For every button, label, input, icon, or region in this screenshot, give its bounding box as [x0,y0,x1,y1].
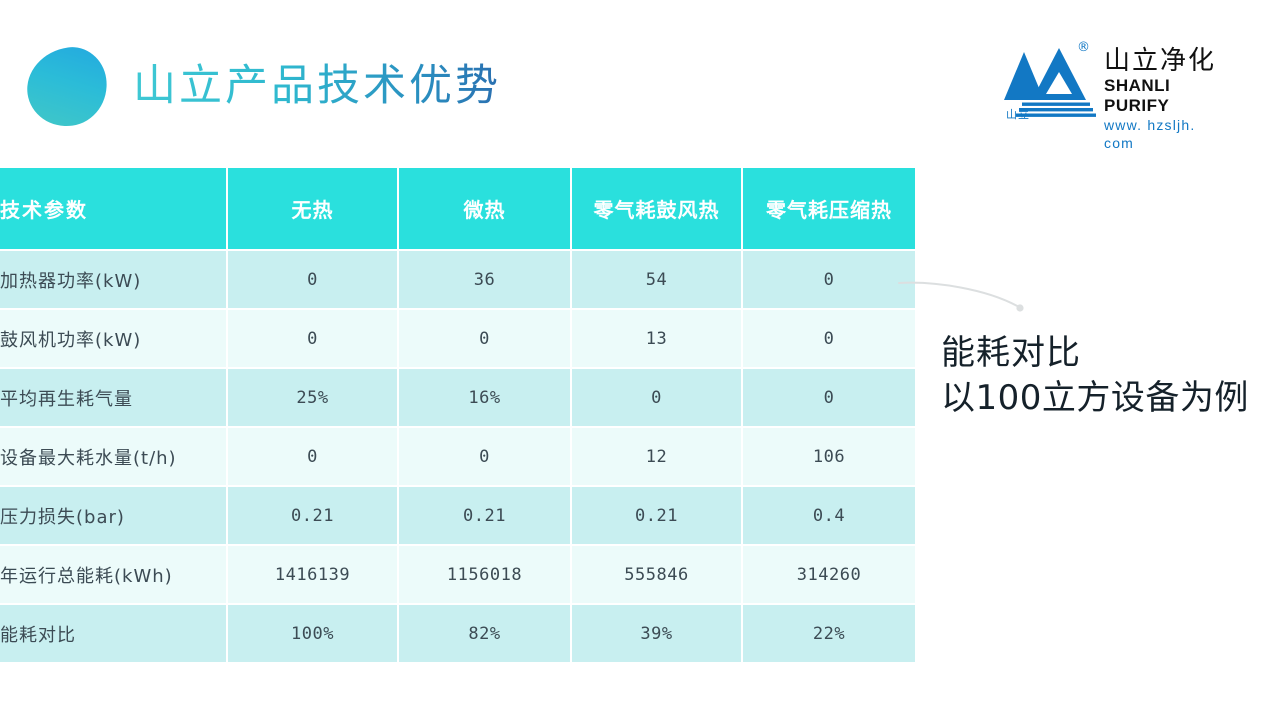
registered-trademark-icon: ® [1077,40,1090,55]
table-cell: 82% [398,604,571,663]
curved-arrow-icon [895,275,1040,330]
row-label: 加热器功率(kW) [0,250,227,309]
column-header-no-heat: 无热 [227,168,398,250]
table-row: 设备最大耗水量(t/h) 0 0 12 106 [0,427,915,486]
annotation-line-2: 以100立方设备为例 [941,376,1249,421]
row-label: 设备最大耗水量(t/h) [0,427,227,486]
annotation-line-1: 能耗对比 [941,331,1249,376]
logo-text-block: 山立净化 SHANLI PURIFY www. hzsljh. com [1104,46,1222,152]
table-cell: 100% [227,604,398,663]
row-label: 鼓风机功率(kW) [0,309,227,368]
table-cell: 0 [227,309,398,368]
table-cell: 22% [742,604,915,663]
table-cell: 0 [398,309,571,368]
row-label: 平均再生耗气量 [0,368,227,427]
page-title: 山立产品技术优势 [133,58,501,114]
table-cell: 1416139 [227,545,398,604]
column-header-micro-heat: 微热 [398,168,571,250]
table-cell: 39% [571,604,742,663]
row-label: 能耗对比 [0,604,227,663]
table-header-row: 技术参数 无热 微热 零气耗鼓风热 零气耗压缩热 [0,168,915,250]
column-header-zero-purge-compression: 零气耗压缩热 [742,168,915,250]
table-cell: 0.4 [742,486,915,545]
table-cell: 0 [227,427,398,486]
table-cell: 0 [227,250,398,309]
table-cell: 0 [398,427,571,486]
logo-mark-label: 山立 [1006,106,1030,122]
table-cell: 16% [398,368,571,427]
table-row: 加热器功率(kW) 0 36 54 0 [0,250,915,309]
table-row: 年运行总能耗(kWh) 1416139 1156018 555846 31426… [0,545,915,604]
table-cell: 555846 [571,545,742,604]
blob-shape-icon [22,43,112,131]
table-cell: 0 [742,250,915,309]
tech-spec-table: 技术参数 无热 微热 零气耗鼓风热 零气耗压缩热 加热器功率(kW) 0 36 … [0,168,915,664]
table-cell: 0.21 [571,486,742,545]
table-cell: 0 [742,309,915,368]
table-cell: 25% [227,368,398,427]
annotation-callout: 能耗对比 以100立方设备为例 [941,331,1249,421]
logo-name-cn: 山立净化 [1104,46,1222,76]
table-cell: 1156018 [398,545,571,604]
row-label: 年运行总能耗(kWh) [0,545,227,604]
table-row: 压力损失(bar) 0.21 0.21 0.21 0.4 [0,486,915,545]
brand-logo: ® 山立 山立净化 SHANLI PURIFY www. hzsljh. com [1000,38,1222,124]
table-header: 技术参数 无热 微热 零气耗鼓风热 零气耗压缩热 [0,168,915,250]
table-body: 加热器功率(kW) 0 36 54 0 鼓风机功率(kW) 0 0 13 0 平… [0,250,915,663]
table-cell: 36 [398,250,571,309]
logo-website-url: www. hzsljh. com [1104,116,1222,152]
row-label: 压力损失(bar) [0,486,227,545]
table-cell: 12 [571,427,742,486]
table-row: 鼓风机功率(kW) 0 0 13 0 [0,309,915,368]
slide-root: 山立产品技术优势 ® 山立 山立净化 SHANLI PURIFY www. hz… [0,0,1280,720]
table-cell: 0.21 [398,486,571,545]
table-cell: 0.21 [227,486,398,545]
logo-name-en: SHANLI PURIFY [1104,76,1222,116]
table-cell: 314260 [742,545,915,604]
table-cell: 0 [571,368,742,427]
column-header-zero-purge-blower: 零气耗鼓风热 [571,168,742,250]
table-row: 平均再生耗气量 25% 16% 0 0 [0,368,915,427]
table-row: 能耗对比 100% 82% 39% 22% [0,604,915,663]
table-cell: 0 [742,368,915,427]
table-cell: 106 [742,427,915,486]
column-header-parameter: 技术参数 [0,168,227,250]
table-cell: 54 [571,250,742,309]
table-cell: 13 [571,309,742,368]
